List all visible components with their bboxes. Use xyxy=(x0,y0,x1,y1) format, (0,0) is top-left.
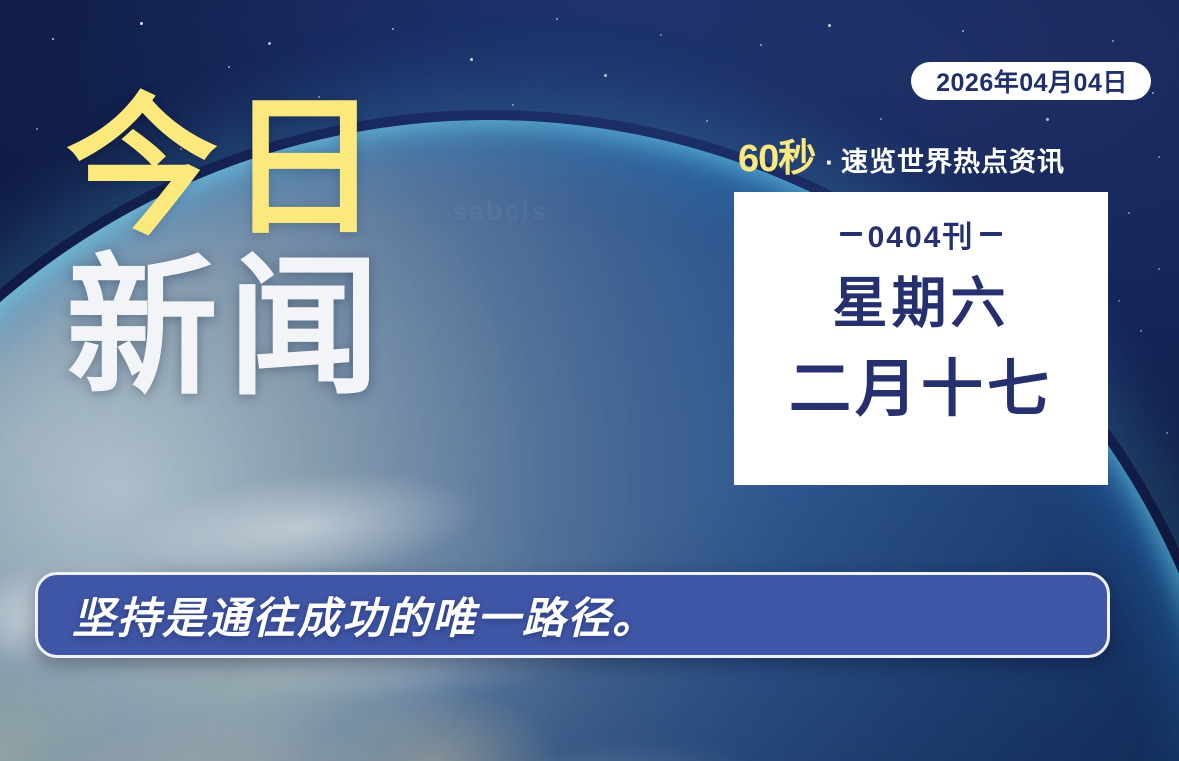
title-line-news: 新闻 xyxy=(66,256,486,402)
quote-banner: 坚持是通往成功的唯一路径。 xyxy=(35,572,1110,658)
info-card: 0404刊 星期六 二月十七 xyxy=(734,192,1108,485)
title-line-today: 今日 xyxy=(66,96,486,242)
tagline-separator: · xyxy=(825,149,834,175)
page-title: 今日 新闻 xyxy=(66,96,486,402)
date-badge-text: 2026年04月04日 xyxy=(936,63,1128,99)
lunar-date: 二月十七 xyxy=(789,359,1053,421)
issue-number: 0404刊 xyxy=(868,212,975,256)
tagline-highlight: 60秒 xyxy=(738,140,815,178)
tagline: 60秒 · 速览世界热点资讯 xyxy=(738,140,1110,178)
news-poster: sabcls 2026年04月04日 60秒 · 速览世界热点资讯 今日 新闻 … xyxy=(0,0,1179,761)
weekday: 星期六 xyxy=(832,276,1009,331)
issue-dash-left-icon xyxy=(840,232,862,236)
issue-dash-right-icon xyxy=(980,232,1002,236)
tagline-text: 速览世界热点资讯 xyxy=(841,149,1065,176)
date-badge: 2026年04月04日 xyxy=(911,62,1151,100)
issue-line: 0404刊 xyxy=(840,212,1003,256)
quote-text: 坚持是通往成功的唯一路径。 xyxy=(72,584,657,646)
